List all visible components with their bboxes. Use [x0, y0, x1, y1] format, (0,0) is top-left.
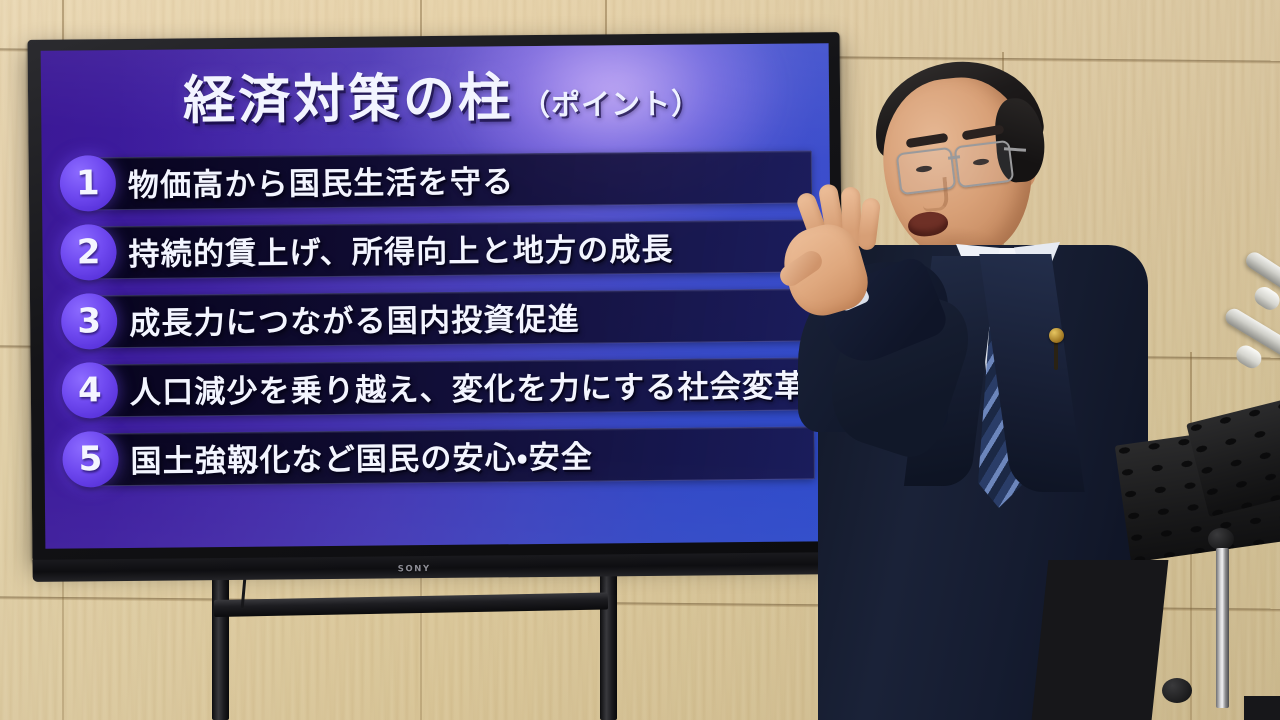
list-item-number: 2 [77, 235, 101, 269]
list-item-number-badge: 4 [62, 362, 119, 419]
list-item: 2 持続的賃上げ、所得向上と地方の成長 [42, 216, 823, 280]
tv-screen: 経済対策の柱 （ポイント） 1 物価高から国民生活を守る 2 [41, 43, 834, 549]
lectern-lower-knob[interactable] [1162, 678, 1192, 703]
gold-badge-pin [1049, 328, 1064, 343]
list-item-number: 5 [79, 442, 103, 476]
slide-point-list: 1 物価高から国民生活を守る 2 持続的賃上げ、所得向上と地方の成長 3 [42, 147, 825, 487]
list-item-label: 国土強靱化など国民の安心・安全 [130, 432, 593, 481]
list-item-label: 持続的賃上げ、所得向上と地方の成長 [128, 224, 674, 274]
list-item-label: 成長力につながる国内投資促進 [129, 294, 580, 343]
slide-title-main: 経済対策の柱 [183, 72, 513, 127]
list-item-number-badge: 5 [62, 431, 119, 488]
lectern-adjust-knob[interactable] [1208, 528, 1234, 550]
slide-title-sub: （ポイント） [521, 89, 701, 124]
list-item-number-badge: 1 [60, 155, 117, 212]
television: SONY 経済対策の柱 （ポイント） 1 物価高から国民生活を守る [28, 32, 845, 562]
screenshot-stage: SONY 経済対策の柱 （ポイント） 1 物価高から国民生活を守る [0, 0, 1280, 720]
list-item: 5 国土強靱化など国民の安心・安全 [44, 423, 825, 487]
list-item: 3 成長力につながる国内投資促進 [43, 285, 824, 349]
list-item-number: 1 [76, 166, 100, 200]
floor-shadow-left [1032, 560, 1169, 720]
list-item: 4 人口減少を乗り越え、変化を力にする社会変革 [44, 354, 825, 418]
list-item-number: 3 [77, 304, 101, 338]
badge-stem [1054, 342, 1058, 370]
list-item: 1 物価高から国民生活を守る [42, 147, 823, 211]
list-item-label: 人口減少を乗り越え、変化を力にする社会変革 [130, 360, 807, 411]
slide-title: 経済対策の柱 （ポイント） [41, 69, 829, 129]
list-item-number: 4 [78, 373, 102, 407]
list-item-number-badge: 3 [61, 293, 118, 350]
nose [921, 177, 950, 212]
lectern-pole [1216, 548, 1229, 708]
list-item-number-badge: 2 [60, 224, 117, 281]
equipment-case-bottom [1244, 696, 1280, 720]
sony-logo: SONY [398, 564, 431, 574]
list-item-label: 物価高から国民生活を守る [128, 156, 515, 205]
